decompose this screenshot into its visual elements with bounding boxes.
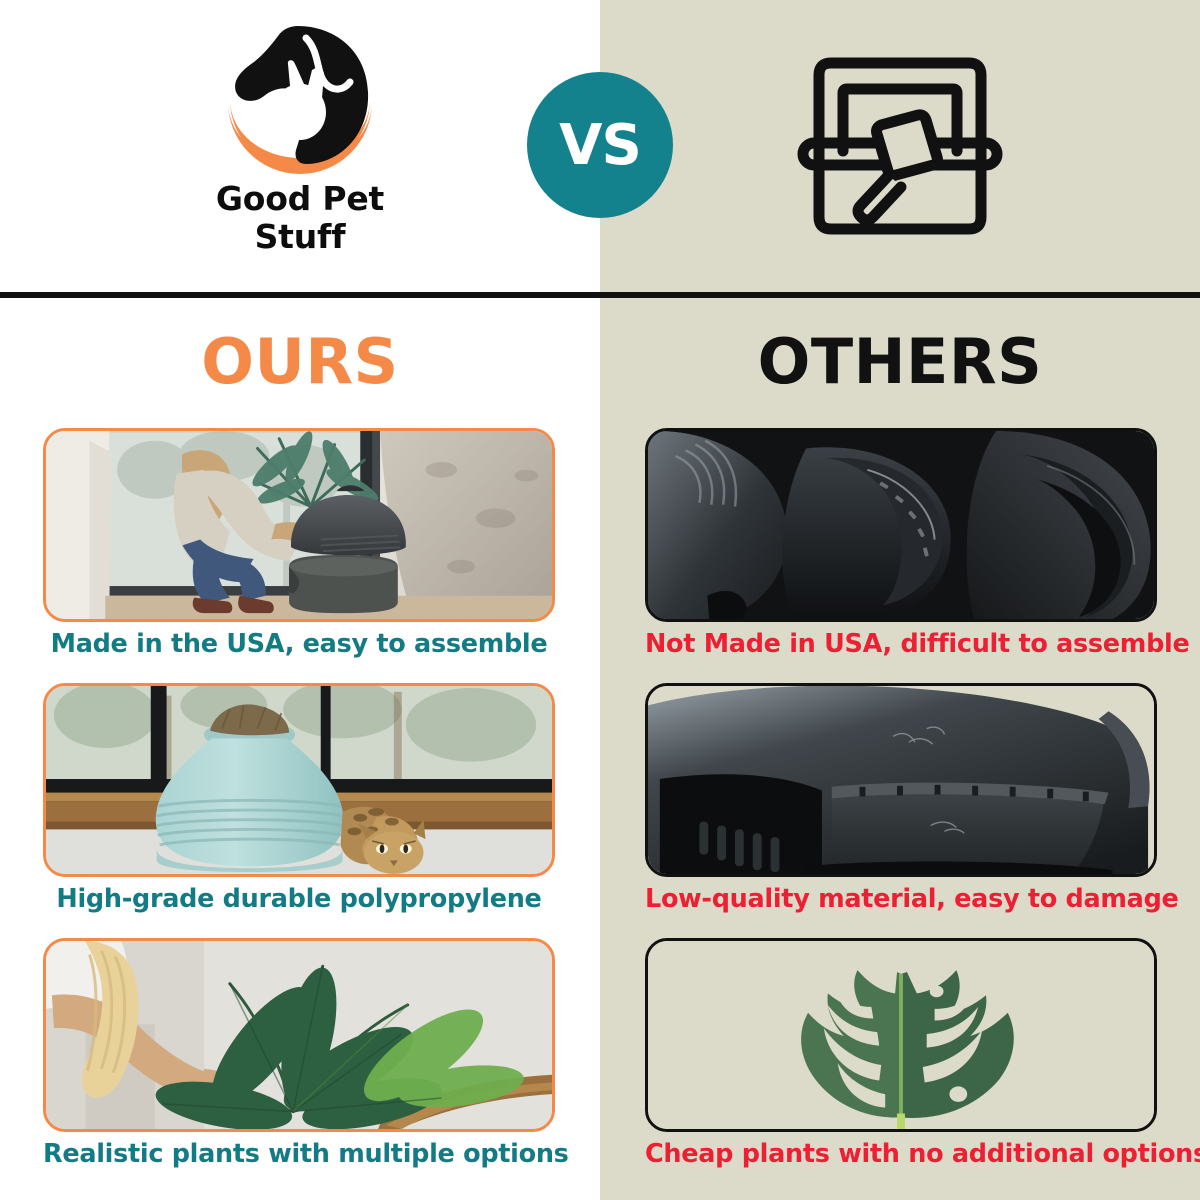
photo-ours-2 bbox=[46, 686, 552, 874]
vs-label: VS bbox=[559, 113, 641, 178]
header-divider bbox=[0, 292, 1200, 298]
caption-others-3: Cheap plants with no additional options bbox=[645, 1139, 1157, 1169]
caption-ours-3: Realistic plants with multiple options bbox=[43, 1139, 555, 1169]
photo-ours-3 bbox=[46, 941, 552, 1129]
comparison-cell-ours-3: Realistic plants with multiple options bbox=[43, 938, 555, 1170]
photo-others-3 bbox=[648, 941, 1154, 1129]
vs-badge: VS bbox=[527, 72, 673, 218]
photo-card-ours-2 bbox=[43, 683, 555, 877]
caption-ours-1: Made in the USA, easy to assemble bbox=[43, 629, 555, 659]
caption-ours-2: High-grade durable polypropylene bbox=[43, 884, 555, 914]
photo-card-ours-3 bbox=[43, 938, 555, 1132]
photo-card-others-2 bbox=[645, 683, 1157, 877]
photo-card-others-1 bbox=[645, 428, 1157, 622]
photo-card-ours-1 bbox=[43, 428, 555, 622]
photo-card-others-3 bbox=[645, 938, 1157, 1132]
comparison-cell-ours-2: High-grade durable polypropylene bbox=[43, 683, 555, 915]
caption-others-1: Not Made in USA, difficult to assemble bbox=[645, 629, 1157, 659]
photo-others-1 bbox=[648, 431, 1154, 619]
caption-others-2: Low-quality material, easy to damage bbox=[645, 884, 1157, 914]
comparison-infographic: Good Pet Stuff VS bbox=[0, 0, 1200, 1200]
comparison-cell-others-1: Not Made in USA, difficult to assemble bbox=[645, 428, 1157, 660]
photo-others-2 bbox=[648, 686, 1154, 874]
photo-ours-1 bbox=[46, 431, 552, 619]
comparison-cell-others-2: Low-quality material, easy to damage bbox=[645, 683, 1157, 915]
comparison-cell-others-3: Cheap plants with no additional options bbox=[645, 938, 1157, 1170]
comparison-cell-ours-1: Made in the USA, easy to assemble bbox=[43, 428, 555, 660]
